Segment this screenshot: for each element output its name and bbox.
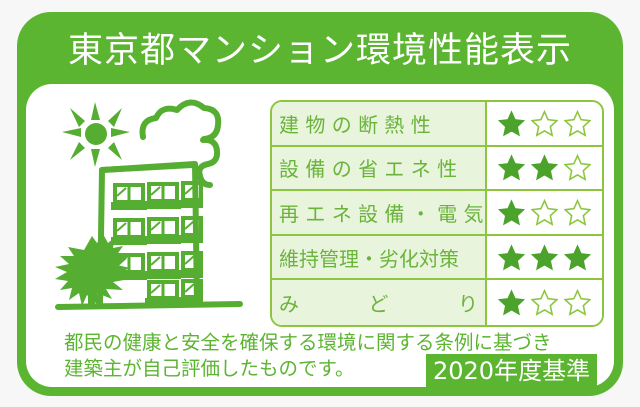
tree-icon [55, 234, 130, 308]
rating-stars [487, 147, 602, 190]
rating-stars [487, 236, 602, 279]
rating-stars [487, 102, 602, 145]
star-empty-icon [564, 110, 591, 137]
table-row: 維持管理・劣化対策 [272, 236, 602, 281]
star-filled-icon [531, 244, 558, 271]
table-row: 建 物 の 断 熱 性 [272, 102, 602, 147]
table-row: 再 エ ネ 設 備 ・ 電 気 [272, 191, 602, 236]
rating-table: 建 物 の 断 熱 性 設 備 の 省 エ ネ 性 [270, 100, 604, 327]
page-title: 東京都マンション環境性能表示 [68, 34, 572, 69]
title-band: 東京都マンション環境性能表示 [17, 12, 623, 90]
footer: 都民の健康と安全を確保する環境に関する条例に基づき 建築主が自己評価したものです… [26, 330, 614, 386]
star-filled-icon [564, 244, 591, 271]
label-card: 東京都マンション環境性能表示 [17, 12, 623, 396]
star-filled-icon [498, 244, 525, 271]
star-empty-icon [531, 110, 558, 137]
table-row: み ど り [272, 280, 602, 325]
star-filled-icon [498, 110, 525, 137]
rating-label: 設 備 の 省 エ ネ 性 [272, 147, 487, 190]
star-filled-icon [498, 154, 525, 181]
table-row: 設 備 の 省 エ ネ 性 [272, 147, 602, 192]
star-empty-icon [531, 199, 558, 226]
eco-building-illustration [40, 92, 268, 314]
cloud-icon [143, 102, 219, 185]
star-empty-icon [531, 289, 558, 316]
rating-label-char: り [458, 288, 478, 317]
star-filled-icon [498, 199, 525, 226]
footer-note-line1: 都民の健康と安全を確保する環境に関する条例に基づき [64, 330, 552, 356]
inner-panel: 建 物 の 断 熱 性 設 備 の 省 エ ネ 性 [26, 84, 614, 387]
star-filled-icon [498, 289, 525, 316]
star-empty-icon [564, 199, 591, 226]
rating-label-char: ど [369, 288, 389, 317]
rating-label: 建 物 の 断 熱 性 [272, 102, 487, 145]
rating-label: 維持管理・劣化対策 [272, 236, 487, 279]
star-empty-icon [564, 289, 591, 316]
standard-year-badge: 2020年度基準 [426, 354, 597, 389]
rating-label: み ど り [272, 280, 487, 325]
star-filled-icon [531, 154, 558, 181]
environmental-performance-label: 東京都マンション環境性能表示 [0, 0, 640, 407]
sun-icon [85, 123, 107, 145]
rating-stars [487, 280, 602, 325]
rating-label: 再 エ ネ 設 備 ・ 電 気 [272, 191, 487, 234]
rating-label-char: み [279, 288, 299, 317]
star-empty-icon [564, 154, 591, 181]
rating-stars [487, 191, 602, 234]
